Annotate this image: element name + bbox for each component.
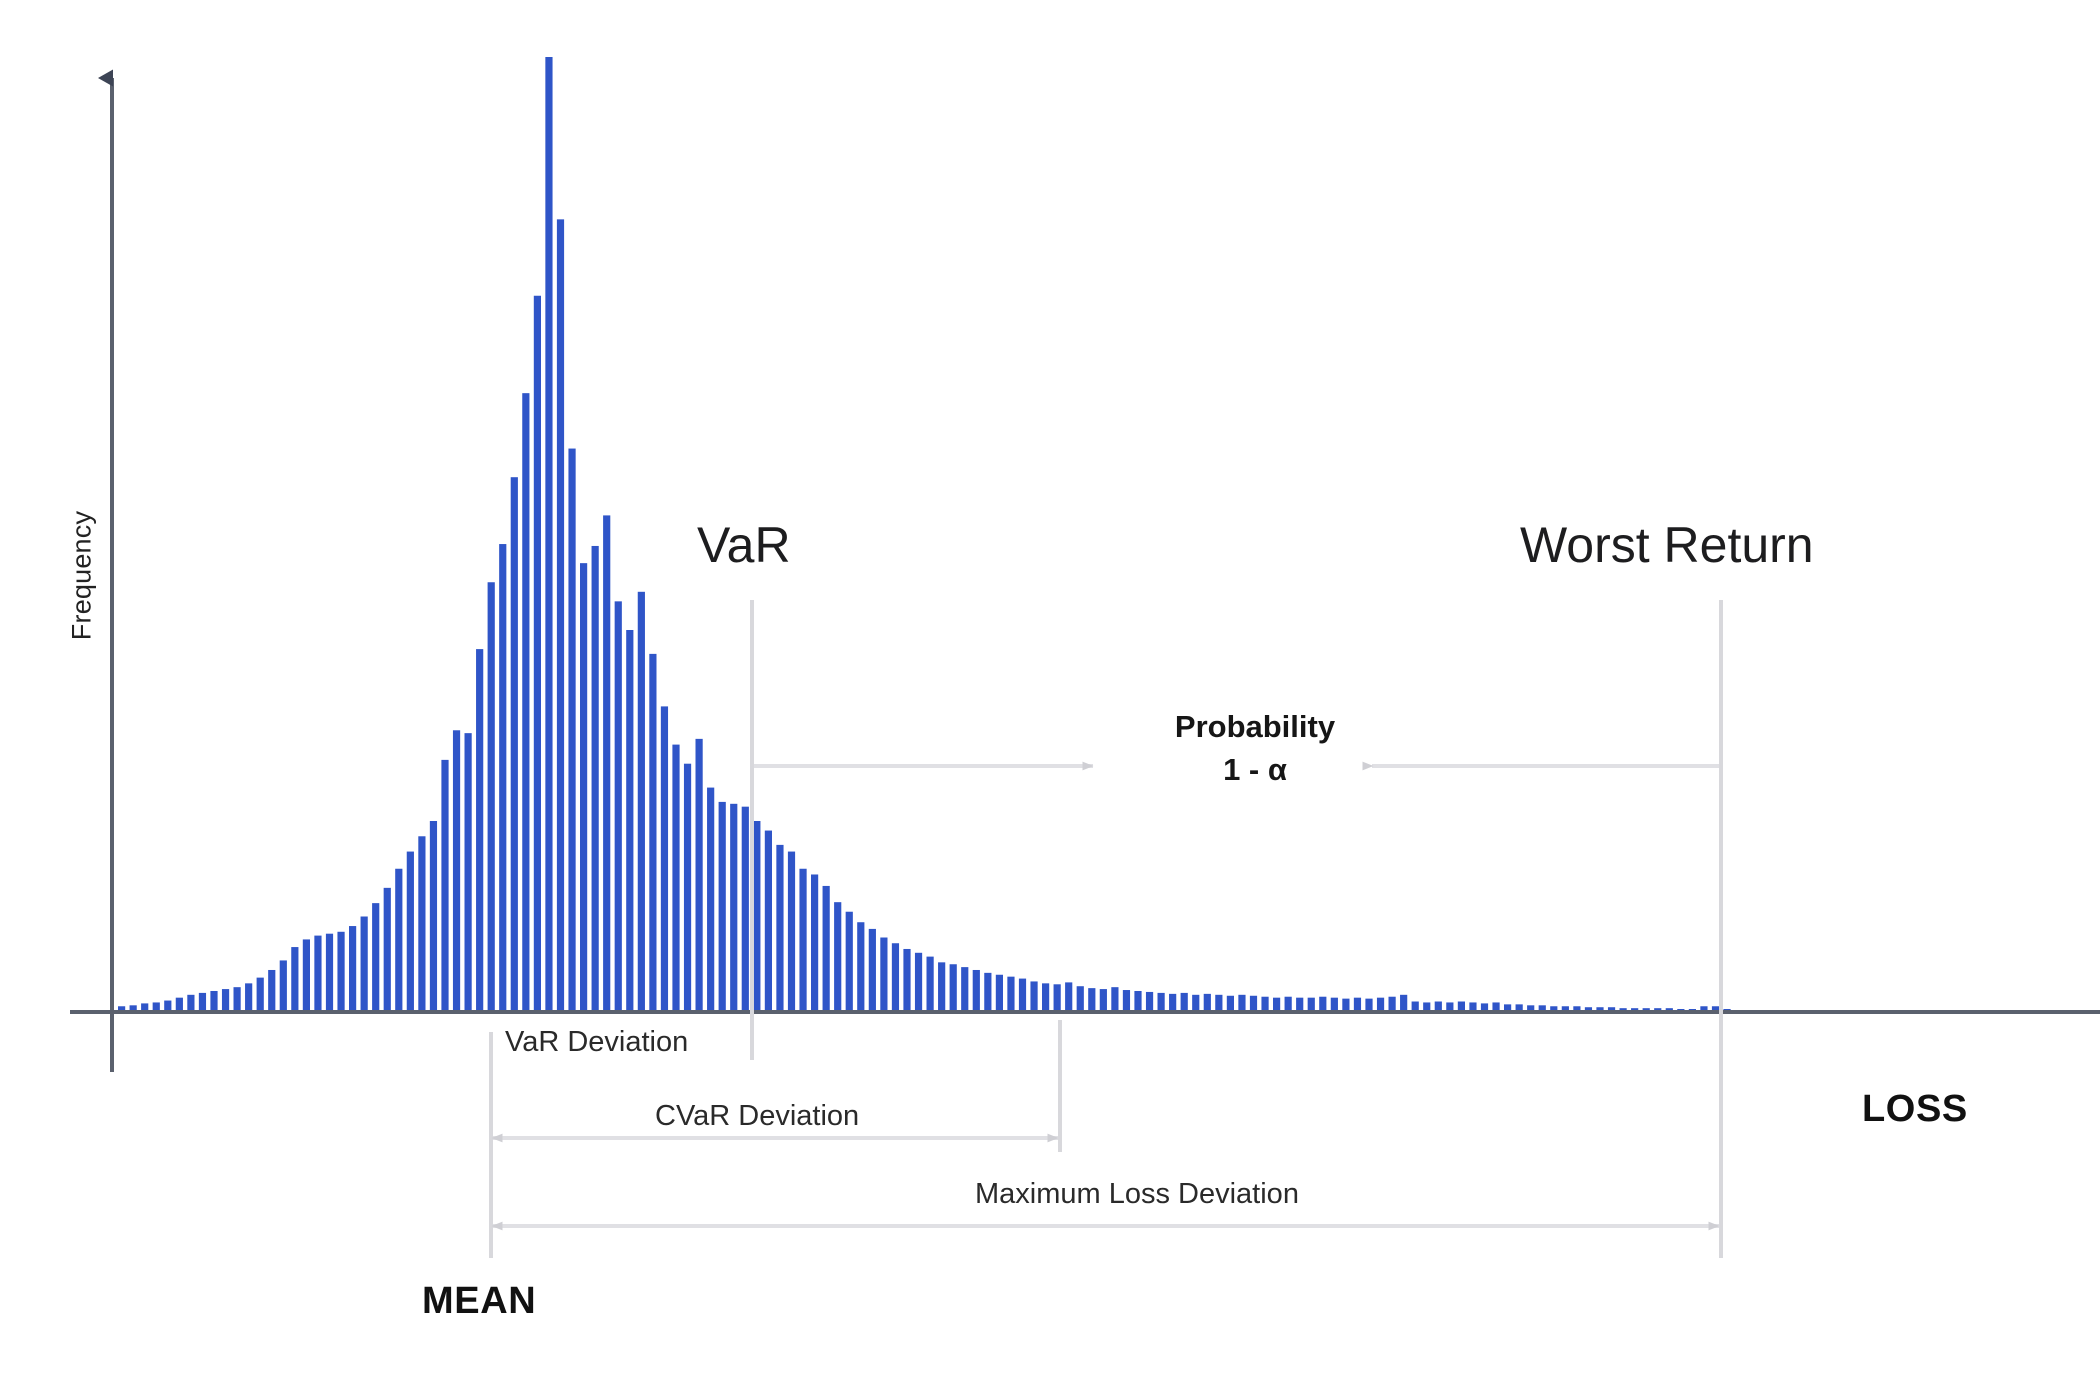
histogram-bar (326, 934, 333, 1012)
histogram-bar (776, 845, 783, 1012)
histogram-bar (1238, 995, 1245, 1012)
histogram-bar (268, 970, 275, 1012)
histogram-bar (522, 393, 529, 1012)
histogram-bars (118, 57, 1731, 1012)
histogram-bar (511, 477, 518, 1012)
histogram-bar (811, 874, 818, 1012)
histogram-bar (1065, 982, 1072, 1012)
histogram-bar (1354, 998, 1361, 1012)
histogram-bar (187, 995, 194, 1012)
histogram-bar (337, 932, 344, 1012)
histogram-bar (534, 296, 541, 1012)
histogram-bar (973, 970, 980, 1012)
histogram-bar (672, 745, 679, 1012)
histogram-bar (1134, 991, 1141, 1012)
histogram-bar (880, 938, 887, 1012)
histogram-bar (1273, 998, 1280, 1012)
histogram-bar (280, 960, 287, 1012)
histogram-bar (846, 912, 853, 1012)
histogram-bar (349, 926, 356, 1012)
histogram-bar (742, 807, 749, 1012)
diagram-canvas: Frequency VaR Worst Return Probability 1… (0, 0, 2100, 1400)
histogram-bar (291, 947, 298, 1012)
histogram-bar (1042, 983, 1049, 1012)
histogram-bar (915, 953, 922, 1012)
histogram-bar (210, 991, 217, 1012)
var-annotation-label: VaR (697, 516, 791, 574)
histogram-bar (1030, 981, 1037, 1012)
histogram-bar (892, 943, 899, 1012)
histogram-bar (1192, 995, 1199, 1012)
histogram-bar (1019, 979, 1026, 1012)
histogram-bar (788, 852, 795, 1012)
histogram-bar (499, 544, 506, 1012)
histogram-bar (1389, 997, 1396, 1012)
probability-annotation-line1: Probability (1125, 706, 1385, 749)
histogram-bar (314, 936, 321, 1012)
histogram-bar (684, 764, 691, 1012)
histogram-bar (615, 601, 622, 1012)
histogram-bar (222, 989, 229, 1012)
histogram-bar (938, 962, 945, 1012)
histogram-bar (245, 983, 252, 1012)
histogram-bar (176, 998, 183, 1012)
histogram-bar (1261, 997, 1268, 1012)
var-deviation-label: VaR Deviation (505, 1026, 688, 1059)
histogram-bar (903, 949, 910, 1012)
histogram-bar (488, 582, 495, 1012)
histogram-bar (1227, 996, 1234, 1012)
histogram-bar (568, 449, 575, 1012)
histogram-bar (395, 869, 402, 1012)
histogram-bar (407, 852, 414, 1012)
histogram-bar (441, 760, 448, 1012)
histogram-bar (823, 886, 830, 1012)
histogram-bar (1181, 993, 1188, 1012)
histogram-bar (1319, 997, 1326, 1012)
histogram-bar (1204, 994, 1211, 1012)
histogram-bar (361, 917, 368, 1013)
histogram-bar (418, 836, 425, 1012)
histogram-bar (1007, 977, 1014, 1012)
mean-axis-label: MEAN (422, 1280, 536, 1323)
histogram-bar (834, 902, 841, 1012)
histogram-bar (661, 706, 668, 1012)
worst-return-annotation-label: Worst Return (1520, 516, 1814, 574)
histogram-bar (603, 515, 610, 1012)
histogram-bar (1308, 998, 1315, 1012)
y-axis-title: Frequency (67, 476, 98, 676)
histogram-bar (1250, 996, 1257, 1012)
probability-annotation: Probability 1 - α (1125, 706, 1385, 792)
histogram-bar (730, 804, 737, 1012)
histogram-bar (1285, 997, 1292, 1012)
histogram-bar (719, 802, 726, 1012)
cvar-deviation-label: CVaR Deviation (655, 1100, 859, 1133)
histogram-bar (557, 219, 564, 1012)
histogram-bar (1054, 984, 1061, 1012)
histogram-bar (1169, 994, 1176, 1012)
histogram-bar (1158, 993, 1165, 1012)
histogram-bar (199, 993, 206, 1012)
histogram-bar (984, 973, 991, 1012)
histogram-bar (1111, 987, 1118, 1012)
histogram-bar (372, 903, 379, 1012)
histogram-bar (1100, 989, 1107, 1012)
histogram-bar (592, 546, 599, 1012)
histogram-bar (649, 654, 656, 1012)
histogram-bar (384, 888, 391, 1012)
histogram-bar (303, 939, 310, 1012)
histogram-bar (1365, 999, 1372, 1012)
histogram-bar (869, 929, 876, 1012)
histogram-bar (1342, 999, 1349, 1012)
histogram-bar (1088, 988, 1095, 1012)
histogram-bar (696, 739, 703, 1012)
histogram-bar (430, 821, 437, 1012)
histogram-bar (799, 869, 806, 1012)
histogram-bar (765, 831, 772, 1012)
histogram-bar (927, 957, 934, 1012)
histogram-bar (1331, 998, 1338, 1012)
histogram-bar (476, 649, 483, 1012)
max-loss-deviation-label: Maximum Loss Deviation (975, 1178, 1299, 1211)
histogram-bar (707, 788, 714, 1012)
histogram-bar (638, 592, 645, 1012)
histogram-bar (996, 975, 1003, 1012)
histogram-bar (453, 730, 460, 1012)
probability-annotation-line2: 1 - α (1125, 749, 1385, 792)
histogram-bar (1296, 998, 1303, 1012)
histogram-bar (465, 733, 472, 1012)
histogram-bar (857, 922, 864, 1012)
loss-axis-label: LOSS (1862, 1088, 1968, 1131)
histogram-bar (257, 978, 264, 1012)
histogram-bar (1123, 990, 1130, 1012)
histogram-bar (1400, 995, 1407, 1012)
histogram-bar (545, 57, 552, 1012)
histogram-bar (753, 821, 760, 1012)
histogram-bar (1215, 995, 1222, 1012)
histogram-bar (626, 630, 633, 1012)
histogram-bar (1146, 992, 1153, 1012)
histogram-bar (1377, 998, 1384, 1012)
histogram-bar (234, 987, 241, 1012)
histogram-bar (961, 967, 968, 1012)
histogram-bar (580, 563, 587, 1012)
histogram-bar (1077, 986, 1084, 1012)
histogram-bar (950, 964, 957, 1012)
